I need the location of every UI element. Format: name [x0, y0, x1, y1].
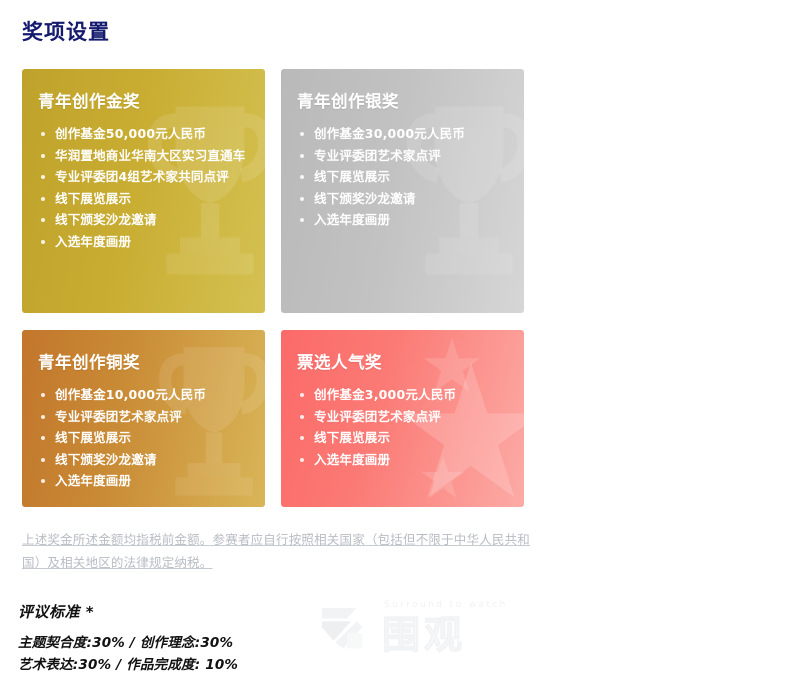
- list-item: 入选年度画册: [297, 449, 508, 471]
- award-benefit-list: 创作基金3,000元人民币 专业评委团艺术家点评 线下展览展示 入选年度画册: [297, 384, 508, 470]
- criteria-title: 评议标准 *: [18, 600, 238, 624]
- list-item: 专业评委团艺术家点评: [297, 145, 508, 167]
- list-item: 创作基金50,000元人民币: [38, 123, 249, 145]
- award-title: 青年创作金奖: [38, 91, 249, 113]
- list-item: 线下展览展示: [297, 166, 508, 188]
- list-item: 线下展览展示: [38, 427, 249, 449]
- award-title: 青年创作银奖: [297, 91, 508, 113]
- list-item: 线下展览展示: [297, 427, 508, 449]
- award-benefit-list: 创作基金50,000元人民币 华润置地商业华南大区实习直通车 专业评委团4组艺术…: [38, 123, 249, 252]
- award-card-silver[interactable]: 青年创作银奖 创作基金30,000元人民币 专业评委团艺术家点评 线下展览展示 …: [281, 69, 524, 313]
- list-item: 专业评委团艺术家点评: [38, 406, 249, 428]
- list-item: 线下颁奖沙龙邀请: [38, 209, 249, 231]
- list-item: 创作基金30,000元人民币: [297, 123, 508, 145]
- award-card-gold[interactable]: 青年创作金奖 创作基金50,000元人民币 华润置地商业华南大区实习直通车 专业…: [22, 69, 265, 313]
- list-item: 入选年度画册: [38, 231, 249, 253]
- award-title: 票选人气奖: [297, 352, 508, 374]
- watermark-wordmark: 围观: [382, 612, 466, 658]
- awards-grid: 青年创作金奖 创作基金50,000元人民币 华润置地商业华南大区实习直通车 专业…: [22, 69, 524, 507]
- tax-footnote-text: 上述奖金所述金额均指税前金额。参赛者应自行按照相关国家（包括但不限于中华人民共和…: [22, 532, 530, 570]
- list-item: 入选年度画册: [297, 209, 508, 231]
- list-item: 线下颁奖沙龙邀请: [38, 449, 249, 471]
- list-item: 入选年度画册: [38, 470, 249, 492]
- award-benefit-list: 创作基金10,000元人民币 专业评委团艺术家点评 线下展览展示 线下颁奖沙龙邀…: [38, 384, 249, 492]
- awards-page: 奖项设置 青年创作金奖 创作基金50,000元人民币 华润置地商业华南大区实习直…: [0, 0, 799, 690]
- tax-footnote: 上述奖金所述金额均指税前金额。参赛者应自行按照相关国家（包括但不限于中华人民共和…: [22, 528, 544, 574]
- award-card-bronze[interactable]: 青年创作铜奖 创作基金10,000元人民币 专业评委团艺术家点评 线下展览展示 …: [22, 330, 265, 507]
- list-item: 专业评委团4组艺术家共同点评: [38, 166, 249, 188]
- watermark-logo: Surround to watch 围观: [318, 596, 502, 668]
- page-title: 奖项设置: [22, 18, 110, 46]
- list-item: 线下展览展示: [38, 188, 249, 210]
- watermark-tagline: Surround to watch: [384, 600, 508, 610]
- brand-mark-icon: [318, 604, 376, 660]
- criteria-section: 评议标准 * 主题契合度:30% / 创作理念:30% 艺术表达:30% / 作…: [18, 600, 238, 676]
- award-benefit-list: 创作基金30,000元人民币 专业评委团艺术家点评 线下展览展示 线下颁奖沙龙邀…: [297, 123, 508, 231]
- award-title: 青年创作铜奖: [38, 352, 249, 374]
- list-item: 线下颁奖沙龙邀请: [297, 188, 508, 210]
- criteria-line: 主题契合度:30% / 创作理念:30%: [18, 632, 238, 654]
- list-item: 创作基金3,000元人民币: [297, 384, 508, 406]
- list-item: 专业评委团艺术家点评: [297, 406, 508, 428]
- list-item: 创作基金10,000元人民币: [38, 384, 249, 406]
- award-card-popularity[interactable]: 票选人气奖 创作基金3,000元人民币 专业评委团艺术家点评 线下展览展示 入选…: [281, 330, 524, 507]
- list-item: 华润置地商业华南大区实习直通车: [38, 145, 249, 167]
- criteria-line: 艺术表达:30% / 作品完成度: 10%: [18, 654, 238, 676]
